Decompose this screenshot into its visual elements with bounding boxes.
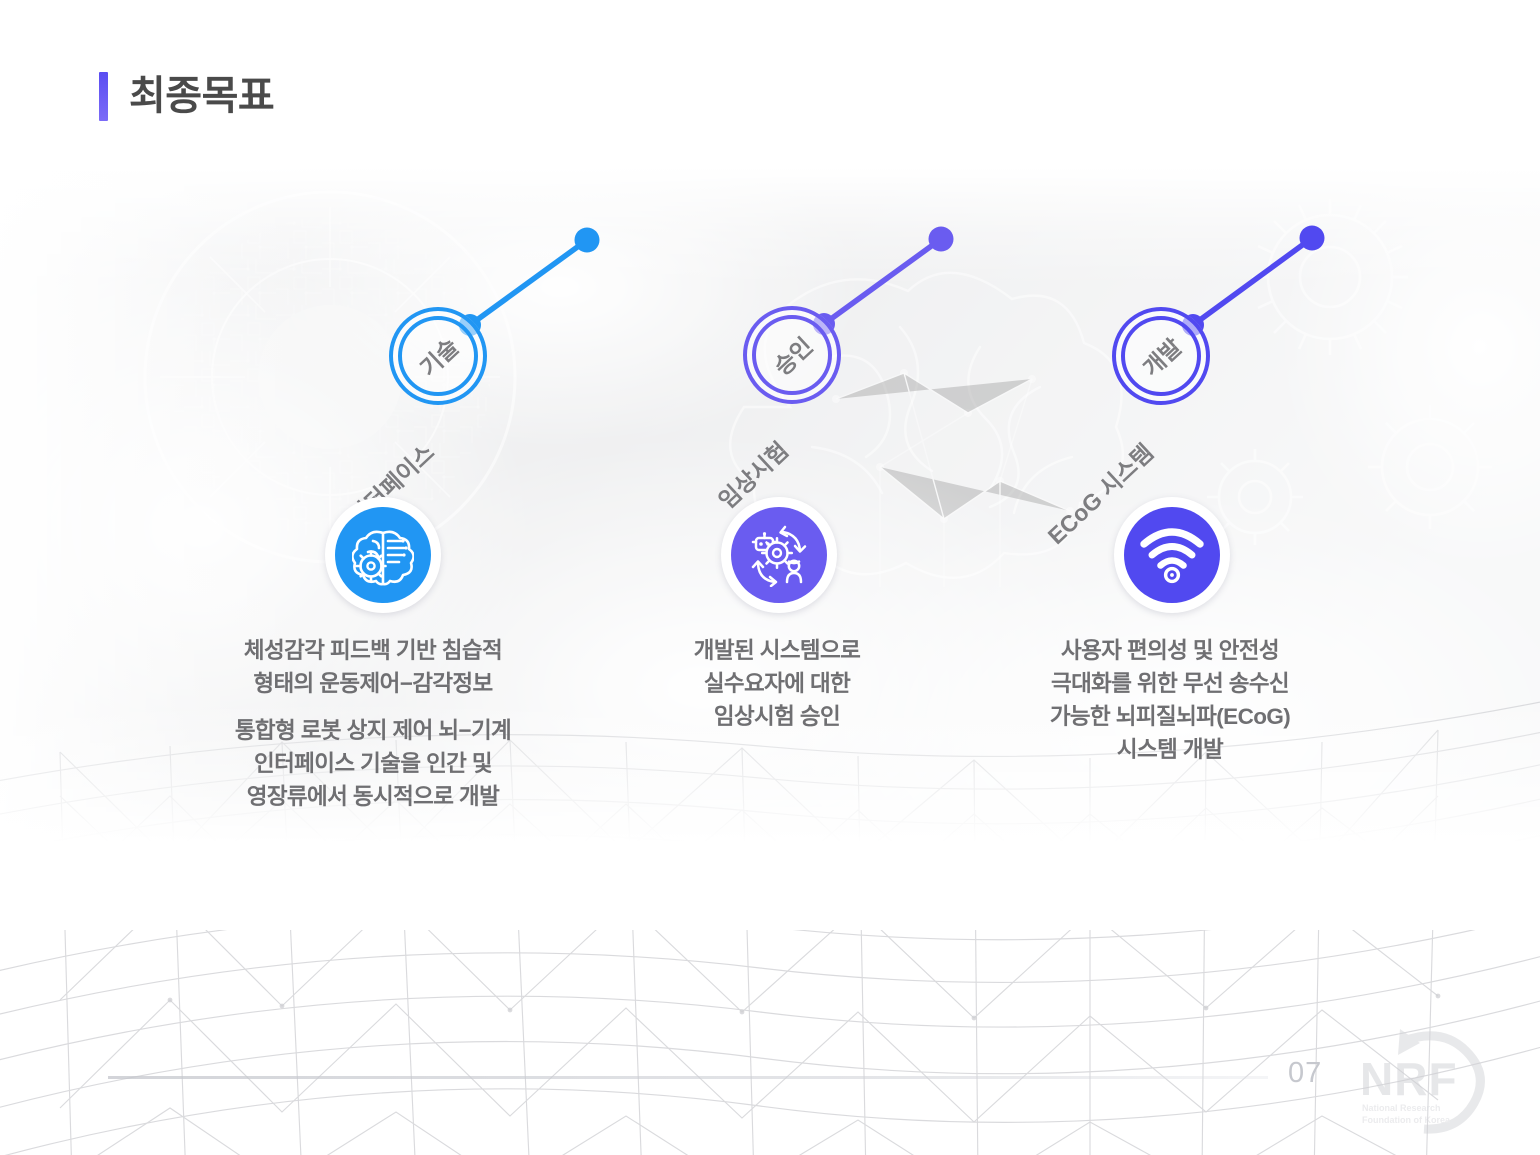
wireless-signal-icon <box>1124 507 1220 603</box>
title-accent-bar <box>99 72 108 121</box>
caption-3-line-1: 사용자 편의성 및 안전성 <box>1061 638 1279 663</box>
caption-3-line-3: 가능한 뇌피질뇌파(ECoG) <box>1050 704 1290 729</box>
icon-medallion-1 <box>325 497 441 613</box>
caption-3-block-a: 사용자 편의성 및 안전성 극대화를 위한 무선 송수신 가능한 뇌피질뇌파(E… <box>915 634 1425 766</box>
badge-interface-technology: 기술 <box>389 307 487 405</box>
caption-3: 사용자 편의성 및 안전성 극대화를 위한 무선 송수신 가능한 뇌피질뇌파(E… <box>915 634 1425 766</box>
caption-3-line-4: 시스템 개발 <box>1117 737 1223 762</box>
brain-gear-icon <box>335 507 431 603</box>
caption-1-line-5: 영장류에서 동시적으로 개발 <box>247 784 500 809</box>
badge-clinical-trial-approval: 승인 <box>743 306 841 404</box>
slide-header: 최종목표 <box>0 0 1540 167</box>
nrf-subtitle-line2: Foundation of Korea <box>1362 1115 1451 1125</box>
slide-root: 최종목표 기술 인터페이스 <box>0 0 1540 1155</box>
badge-head-label: 승인 <box>723 286 862 425</box>
caption-3-line-2: 극대화를 위한 무선 송수신 <box>1051 671 1289 696</box>
badge-ecog-system-development: 개발 <box>1112 307 1210 405</box>
nrf-subtitle-line1: National Research <box>1362 1103 1441 1113</box>
footer-divider <box>108 1076 1268 1079</box>
caption-2-line-1: 개발된 시스템으로 <box>694 638 860 663</box>
caption-1-line-3: 통합형 로봇 상지 제어 뇌−기계 <box>235 718 511 743</box>
badge-head-label: 개발 <box>1092 287 1231 426</box>
icon-medallion-2 <box>721 497 837 613</box>
badge-head-label: 기술 <box>369 287 508 426</box>
caption-1-line-2: 형태의 운동제어−감각정보 <box>253 671 492 696</box>
caption-2-line-2: 실수요자에 대한 <box>704 671 850 696</box>
page-title: 최종목표 <box>129 63 274 121</box>
robot-human-cycle-icon <box>731 507 827 603</box>
svg-text:NRF: NRF <box>1360 1053 1458 1105</box>
icon-medallion-3 <box>1114 497 1230 613</box>
page-number: 07 <box>1288 1057 1322 1090</box>
caption-1-line-1: 체성감각 피드백 기반 침습적 <box>244 638 502 663</box>
nrf-logo: NRF National Research Foundation of Kore… <box>1348 1023 1498 1135</box>
caption-1-line-4: 인터페이스 기술을 인간 및 <box>254 751 492 776</box>
caption-2-line-3: 임상시험 승인 <box>714 704 840 729</box>
